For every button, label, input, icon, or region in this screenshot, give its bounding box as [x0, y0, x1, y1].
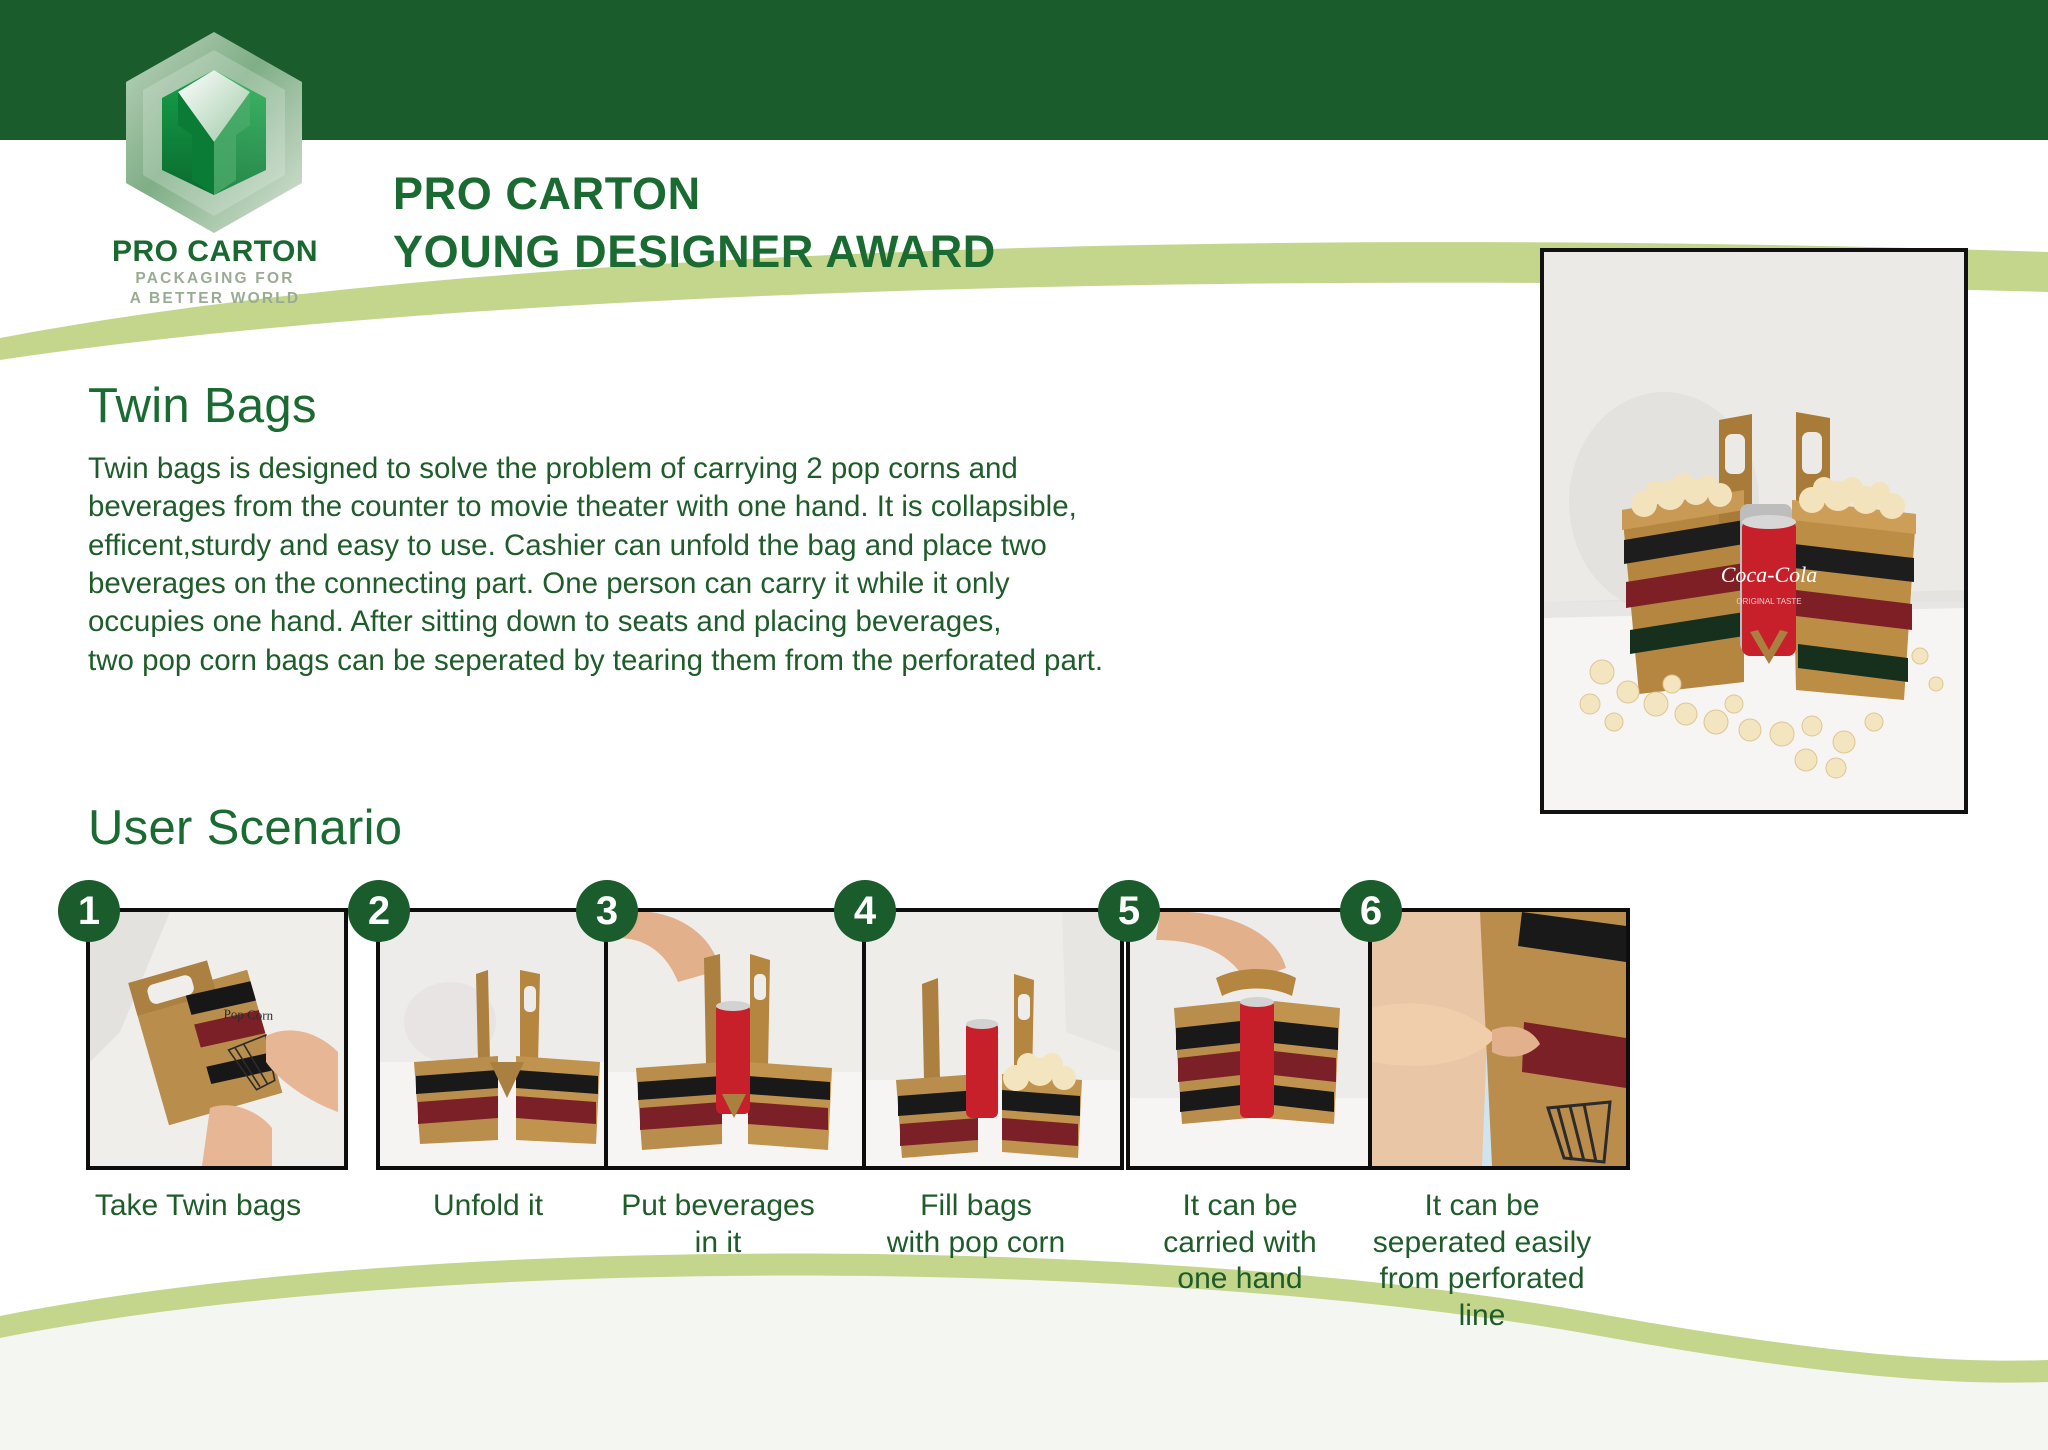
step-photo-3: [604, 908, 866, 1170]
award-title: PRO CARTON YOUNG DESIGNER AWARD: [393, 165, 996, 280]
svg-text:Coca-Cola: Coca-Cola: [1721, 562, 1818, 587]
step-number-badge-1: 1: [58, 880, 120, 942]
logo-wordmark: PRO CARTON: [95, 235, 335, 269]
step-photo-4: [862, 908, 1124, 1170]
step-photo-3-illustration: [608, 912, 862, 1166]
step-number-badge-3: 3: [576, 880, 638, 942]
project-heading: Twin Bags: [88, 378, 1518, 434]
logo-tagline-line2: A BETTER WORLD: [95, 290, 335, 308]
pro-carton-logo: PRO CARTON PACKAGING FOR A BETTER WORLD: [95, 30, 335, 320]
step-photo-1: Pop Corn: [86, 908, 348, 1170]
award-title-line1: PRO CARTON: [393, 165, 996, 223]
user-scenario-heading: User Scenario: [88, 800, 402, 856]
logo-tagline-line1: PACKAGING FOR: [95, 270, 335, 288]
svg-text:ORIGINAL TASTE: ORIGINAL TASTE: [1736, 597, 1801, 606]
hero-product-photo: Coca-Cola ORIGINAL TASTE: [1540, 248, 1968, 814]
step-photo-6-illustration: [1372, 912, 1626, 1166]
step-caption-6: It can be seperated easily from perforat…: [1322, 1188, 1642, 1334]
project-section: Twin Bags Twin bags is designed to solve…: [88, 378, 1518, 680]
step-photo-5: [1126, 908, 1388, 1170]
step-number-badge-4: 4: [834, 880, 896, 942]
step-photo-6: [1368, 908, 1630, 1170]
step-photo-2-illustration: [380, 912, 634, 1166]
project-description: Twin bags is designed to solve the probl…: [88, 450, 1518, 680]
step-number-badge-6: 6: [1340, 880, 1402, 942]
step-photo-1-illustration: Pop Corn: [90, 912, 344, 1166]
step-number-badge-2: 2: [348, 880, 410, 942]
svg-text:Pop Corn: Pop Corn: [223, 1006, 273, 1023]
award-title-line2: YOUNG DESIGNER AWARD: [393, 223, 996, 281]
step-caption-1: Take Twin bags: [48, 1188, 348, 1225]
step-photo-5-illustration: [1130, 912, 1384, 1166]
pro-carton-hexagon-logo-icon: [122, 30, 307, 235]
step-photo-2: [376, 908, 638, 1170]
hero-photo-illustration: Coca-Cola ORIGINAL TASTE: [1544, 252, 1964, 810]
step-number-badge-5: 5: [1098, 880, 1160, 942]
user-scenario-steps: 1 Pop Corn: [0, 880, 2048, 1440]
step-photo-4-illustration: [866, 912, 1120, 1166]
